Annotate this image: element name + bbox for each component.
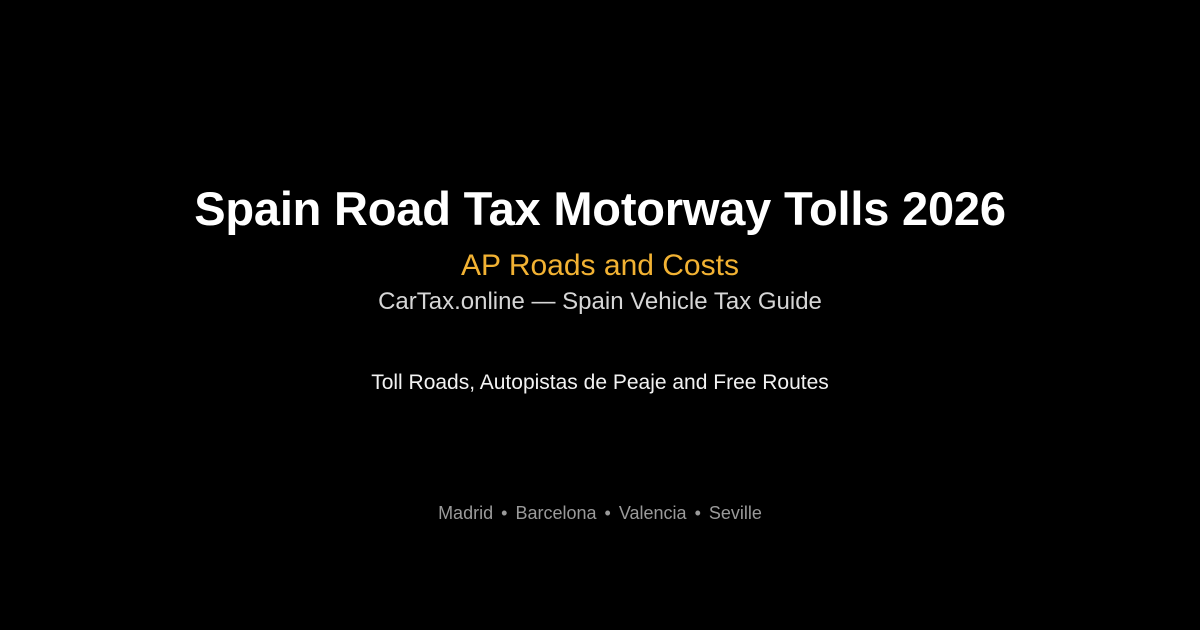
city-item-seville: Seville — [709, 503, 762, 523]
bullet-separator-icon: • — [692, 503, 704, 523]
brand-byline: CarTax.online — Spain Vehicle Tax Guide — [0, 288, 1200, 317]
bullet-separator-icon: • — [602, 503, 614, 523]
city-item-madrid: Madrid — [438, 503, 493, 523]
city-item-valencia: Valencia — [619, 503, 687, 523]
city-list: Madrid • Barcelona • Valencia • Seville — [0, 503, 1200, 525]
bullet-separator-icon: • — [498, 503, 510, 523]
city-item-barcelona: Barcelona — [515, 503, 596, 523]
page-title: Spain Road Tax Motorway Tolls 2026 — [0, 184, 1200, 233]
card-content-stack: Spain Road Tax Motorway Tolls 2026 AP Ro… — [0, 0, 1200, 630]
social-share-card: Spain Road Tax Motorway Tolls 2026 AP Ro… — [0, 0, 1200, 630]
page-description: Toll Roads, Autopistas de Peaje and Free… — [0, 370, 1200, 395]
page-subtitle: AP Roads and Costs — [0, 249, 1200, 282]
